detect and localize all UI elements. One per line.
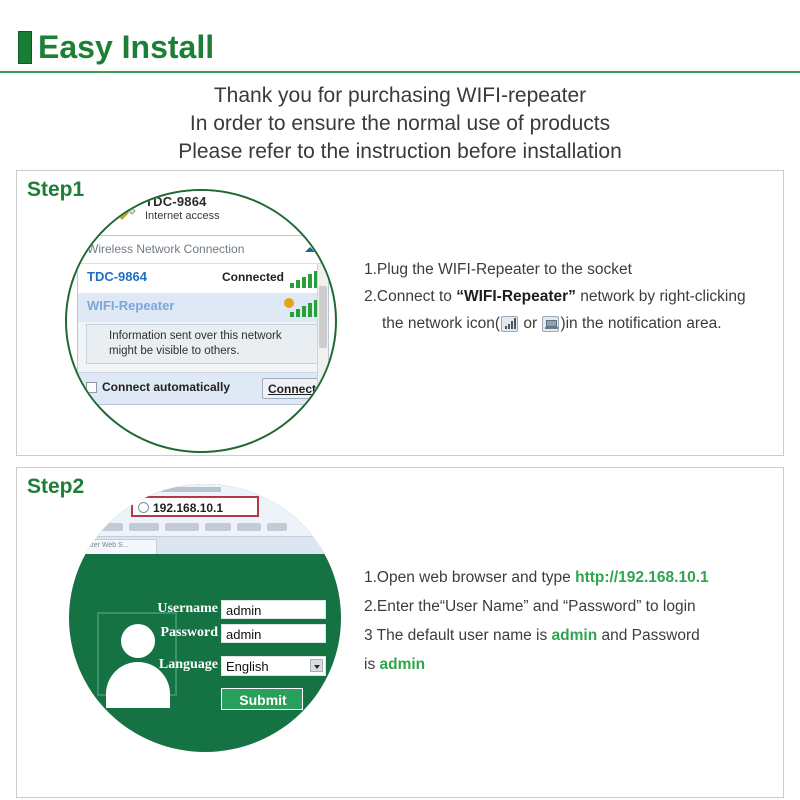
password-field-row: Password admin xyxy=(221,624,326,643)
network-security-note: Information sent over this network might… xyxy=(86,324,320,364)
username-field-row: Username admin xyxy=(221,600,326,619)
signal-bars-icon xyxy=(290,271,320,288)
signal-strength-icon xyxy=(501,316,518,332)
wireless-flyout-header: Wireless Network Connection xyxy=(78,236,328,264)
wireless-flyout-title: Wireless Network Connection xyxy=(87,242,244,256)
note-line-1: Information sent over this network xyxy=(109,330,282,342)
browser-toolbar xyxy=(97,522,317,532)
step2-panel: Step2 192.168.10.1 eater Web S... xyxy=(16,467,784,798)
network-list-item[interactable]: WIFI-Repeater xyxy=(78,293,328,322)
address-bar-value: 192.168.10.1 xyxy=(153,501,223,515)
warning-dot-icon xyxy=(284,298,294,308)
chevron-down-icon[interactable] xyxy=(310,659,323,672)
step1-instructions: 1.Plug the WIFI-Repeater to the socket 2… xyxy=(364,256,774,337)
scrollbar-thumb[interactable] xyxy=(319,286,327,348)
intro-text: Thank you for purchasing WIFI-repeater I… xyxy=(0,82,800,166)
language-label: Language xyxy=(159,657,218,673)
intro-line-1: Thank you for purchasing WIFI-repeater xyxy=(0,82,800,110)
language-field-row: Language English xyxy=(221,656,326,675)
step2-instruction-3a: 3 The default user name is xyxy=(364,627,552,644)
step1-instruction-3a: the network icon( xyxy=(382,315,500,332)
tray-ssid: TDC-9864 xyxy=(145,194,207,209)
header-accent-bar xyxy=(18,31,32,64)
connect-automatically-checkbox[interactable] xyxy=(86,382,97,393)
network-name: WIFI-Repeater xyxy=(87,298,174,313)
step1-instruction-2b: “WIFI-Repeater” xyxy=(456,288,576,305)
network-monitor-icon xyxy=(542,316,559,332)
step2-screenshot-circle: 192.168.10.1 eater Web S... Username adm… xyxy=(69,484,341,752)
step2-instructions: 1.Open web browser and type http://192.1… xyxy=(364,563,779,679)
step1-instruction-3or: or xyxy=(519,315,541,332)
step2-instruction-3c: and Password xyxy=(597,627,700,644)
intro-line-2: In order to ensure the normal use of pro… xyxy=(0,110,800,138)
step1-instruction-3: the network icon( or )in the notificatio… xyxy=(364,310,774,337)
globe-icon xyxy=(138,502,149,513)
step1-instruction-1: 1.Plug the WIFI-Repeater to the socket xyxy=(364,256,774,283)
language-value: English xyxy=(226,659,269,674)
network-status: Connected xyxy=(222,270,284,284)
scrollbar[interactable] xyxy=(317,264,328,406)
browser-tabbar: eater Web S... xyxy=(69,536,341,554)
tray-tooltip: TDC-9864 Internet access xyxy=(67,191,337,235)
browser-tab[interactable]: eater Web S... xyxy=(79,539,157,554)
tray-status: Internet access xyxy=(145,210,220,222)
username-input[interactable]: admin xyxy=(221,600,326,619)
password-input[interactable]: admin xyxy=(221,624,326,643)
step1-panel: Step1 TDC-9864 Internet access Wireless … xyxy=(16,170,784,456)
step1-instruction-3c: )in the notification area. xyxy=(560,315,721,332)
password-label: Password xyxy=(160,625,218,641)
connect-automatically-label: Connect automatically xyxy=(102,380,230,394)
page-header: Easy Install xyxy=(0,0,800,72)
note-line-2: might be visible to others. xyxy=(109,345,239,357)
network-list-item[interactable]: TDC-9864 Connected xyxy=(78,264,328,293)
wireless-flyout-footer: Connect automatically Connect xyxy=(78,372,328,404)
page-title: Easy Install xyxy=(38,28,214,66)
favicon-icon xyxy=(107,500,119,512)
intro-line-3: Please refer to the instruction before i… xyxy=(0,138,800,166)
chevron-up-icon[interactable] xyxy=(305,247,315,252)
router-url: http://192.168.10.1 xyxy=(575,569,709,586)
step1-instruction-2: 2.Connect to “WIFI-Repeater” network by … xyxy=(364,283,774,310)
address-bar[interactable]: 192.168.10.1 xyxy=(131,496,259,517)
step2-instruction-4: is admin xyxy=(364,650,779,679)
network-plug-icon xyxy=(117,205,137,223)
step1-instruction-2a: 2.Connect to xyxy=(364,288,456,305)
connect-button[interactable]: Connect xyxy=(262,378,320,399)
username-label: Username xyxy=(157,601,218,617)
step2-instruction-4a: is xyxy=(364,656,380,673)
step2-instruction-1: 1.Open web browser and type http://192.1… xyxy=(364,563,779,592)
step2-instruction-1a: 1.Open web browser and type xyxy=(364,569,575,586)
step1-screenshot-circle: TDC-9864 Internet access Wireless Networ… xyxy=(65,189,337,453)
default-password: admin xyxy=(380,656,426,673)
header-divider xyxy=(0,71,800,73)
step2-instruction-3: 3 The default user name is admin and Pas… xyxy=(364,621,779,650)
browser-tab-title: eater Web S... xyxy=(84,542,129,549)
step2-instruction-2: 2.Enter the“User Name” and “Password” to… xyxy=(364,592,779,621)
network-name: TDC-9864 xyxy=(87,269,147,284)
default-username: admin xyxy=(552,627,598,644)
password-value: admin xyxy=(226,627,261,642)
submit-button-label: Submit xyxy=(222,692,304,708)
connect-button-label: Connect xyxy=(263,382,321,396)
avatar-head-icon xyxy=(121,624,155,658)
signal-bars-warning-icon xyxy=(290,300,320,317)
language-select[interactable]: English xyxy=(221,656,326,676)
wireless-flyout: Wireless Network Connection TDC-9864 Con… xyxy=(77,235,329,405)
step1-instruction-2c: network by right-clicking xyxy=(576,288,746,305)
submit-button[interactable]: Submit xyxy=(221,688,303,710)
browser-menubar-placeholder xyxy=(161,487,221,492)
browser-chrome: 192.168.10.1 eater Web S... xyxy=(69,484,341,554)
username-value: admin xyxy=(226,603,261,618)
